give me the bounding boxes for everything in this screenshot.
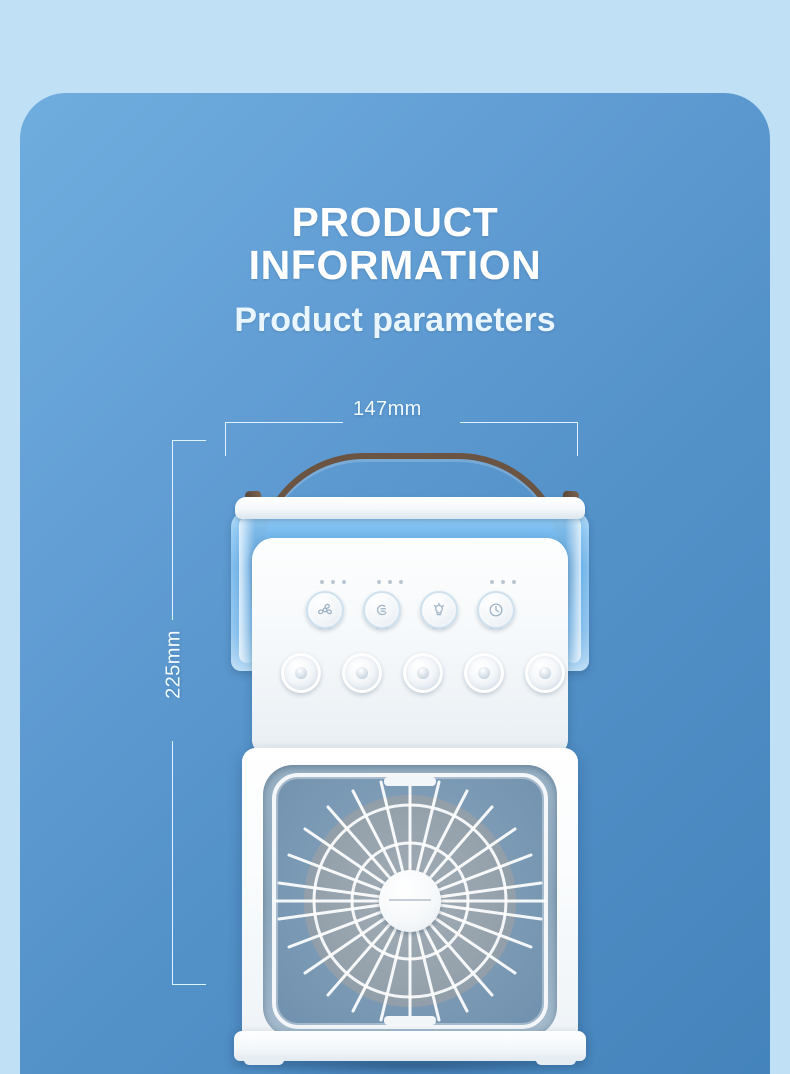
tank-cap bbox=[235, 497, 585, 519]
indicator-dots-fan bbox=[320, 580, 346, 584]
nozzle-hole bbox=[417, 667, 429, 679]
mist-nozzle-4[interactable] bbox=[464, 653, 504, 693]
grille-tab-bottom bbox=[384, 1016, 436, 1025]
fan-speed-knob[interactable] bbox=[306, 591, 344, 629]
product-info-card: PRODUCT INFORMATION Product parameters 1… bbox=[20, 93, 770, 1074]
foot-right bbox=[536, 1056, 576, 1065]
fan-icon bbox=[315, 600, 335, 620]
nozzle-hole bbox=[539, 667, 551, 679]
indicator-dots-timer bbox=[490, 580, 516, 584]
mist-nozzle-5[interactable] bbox=[525, 653, 565, 693]
nozzle-hole bbox=[478, 667, 490, 679]
mist-knob[interactable] bbox=[363, 591, 401, 629]
mist-icon bbox=[372, 600, 392, 620]
product-illustration bbox=[20, 93, 770, 1074]
product-base bbox=[234, 1031, 586, 1061]
control-panel bbox=[252, 538, 568, 754]
fan-grille-frame bbox=[272, 773, 548, 1029]
timer-knob[interactable] bbox=[477, 591, 515, 629]
product-info-page: PRODUCT INFORMATION Product parameters 1… bbox=[0, 0, 790, 1074]
light-knob[interactable] bbox=[420, 591, 458, 629]
grille-tab-top bbox=[384, 777, 436, 786]
mist-nozzle-3[interactable] bbox=[403, 653, 443, 693]
foot-left bbox=[244, 1056, 284, 1065]
mist-nozzle-1[interactable] bbox=[281, 653, 321, 693]
mist-nozzle-2[interactable] bbox=[342, 653, 382, 693]
nozzle-hole bbox=[356, 667, 368, 679]
bulb-icon bbox=[429, 600, 449, 620]
nozzle-hole bbox=[295, 667, 307, 679]
clock-icon bbox=[486, 600, 506, 620]
indicator-dots-mist bbox=[377, 580, 403, 584]
